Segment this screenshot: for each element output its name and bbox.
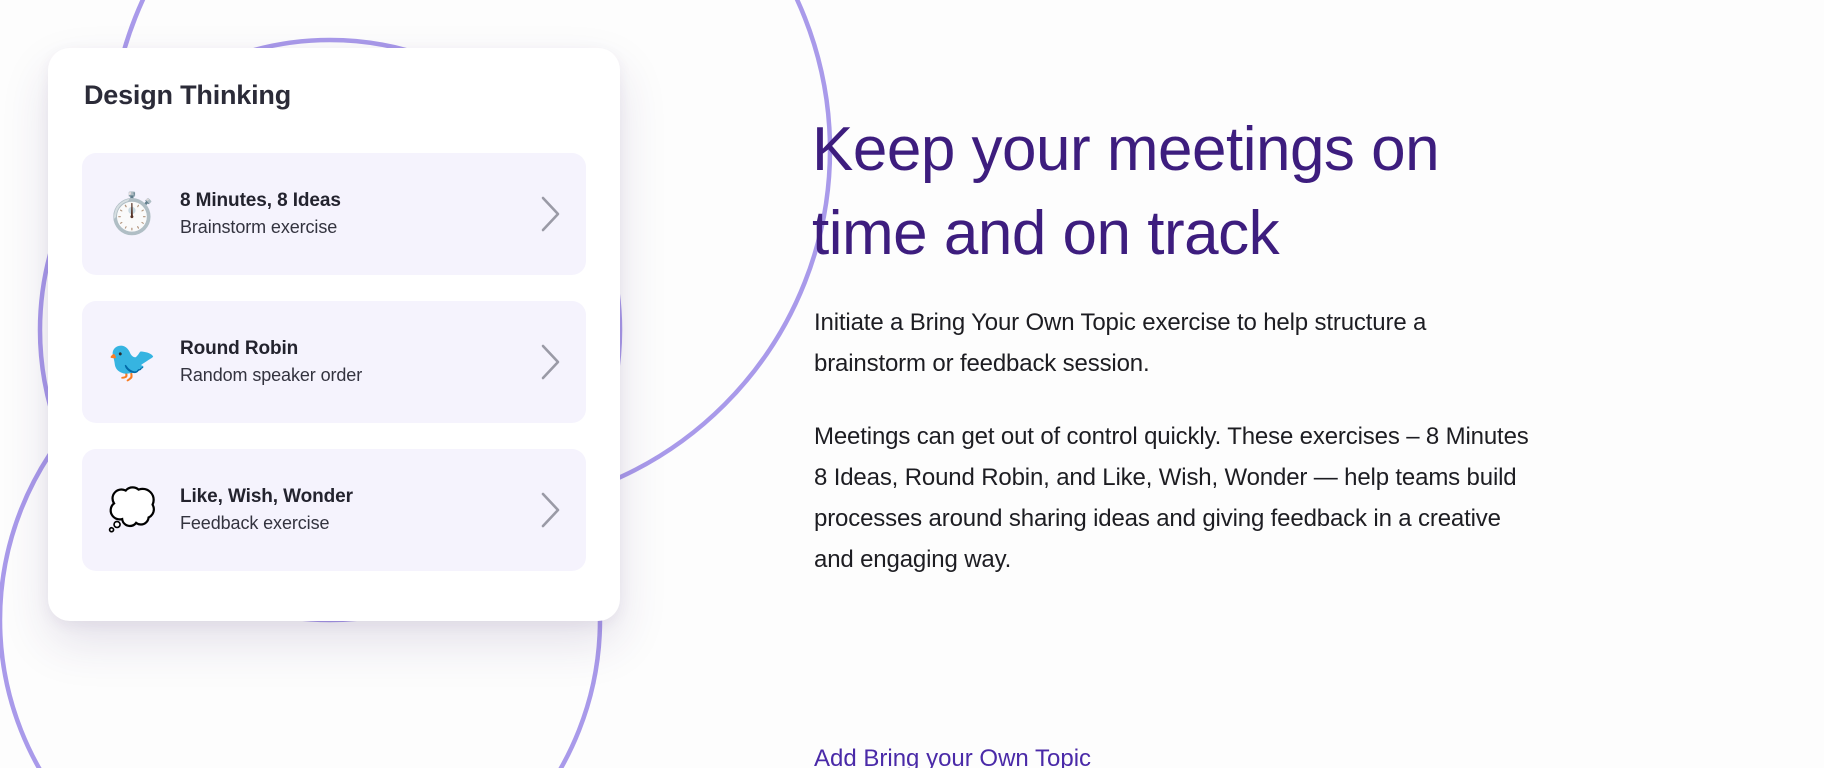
exercise-row[interactable]: 💭 Like, Wish, Wonder Feedback exercise: [82, 449, 586, 571]
exercise-row[interactable]: ⏱️ 8 Minutes, 8 Ideas Brainstorm exercis…: [82, 153, 586, 275]
exercise-title: Like, Wish, Wonder: [180, 486, 534, 508]
chevron-right-icon[interactable]: [534, 487, 568, 533]
stopwatch-icon: ⏱️: [104, 194, 160, 234]
chevron-right-icon[interactable]: [534, 339, 568, 385]
thought-balloon-icon: 💭: [104, 490, 160, 530]
page-root: Design Thinking ⏱️ 8 Minutes, 8 Ideas Br…: [0, 0, 1824, 768]
card-illustration-panel: Design Thinking ⏱️ 8 Minutes, 8 Ideas Br…: [0, 0, 760, 768]
exercise-title: Round Robin: [180, 338, 534, 360]
body-paragraph-1: Initiate a Bring Your Own Topic exercise…: [814, 302, 1530, 384]
body-paragraph-2: Meetings can get out of control quickly.…: [814, 416, 1530, 580]
exercise-subtitle: Feedback exercise: [180, 513, 534, 534]
exercise-card: Design Thinking ⏱️ 8 Minutes, 8 Ideas Br…: [48, 48, 620, 621]
card-title: Design Thinking: [84, 80, 291, 111]
bird-icon: 🐦: [104, 342, 160, 382]
exercise-subtitle: Random speaker order: [180, 365, 534, 386]
exercise-row-text: Round Robin Random speaker order: [160, 338, 534, 386]
content-panel: Keep your meetings on time and on track …: [812, 0, 1552, 768]
exercise-title: 8 Minutes, 8 Ideas: [180, 190, 534, 212]
exercise-row-text: 8 Minutes, 8 Ideas Brainstorm exercise: [160, 190, 534, 238]
exercise-row[interactable]: 🐦 Round Robin Random speaker order: [82, 301, 586, 423]
exercise-row-text: Like, Wish, Wonder Feedback exercise: [160, 486, 534, 534]
exercise-list: ⏱️ 8 Minutes, 8 Ideas Brainstorm exercis…: [82, 153, 586, 571]
add-exercise-link[interactable]: Add Bring your Own Topic: [814, 742, 1091, 768]
chevron-right-icon[interactable]: [534, 191, 568, 237]
page-headline: Keep your meetings on time and on track: [812, 108, 1532, 276]
exercise-subtitle: Brainstorm exercise: [180, 217, 534, 238]
